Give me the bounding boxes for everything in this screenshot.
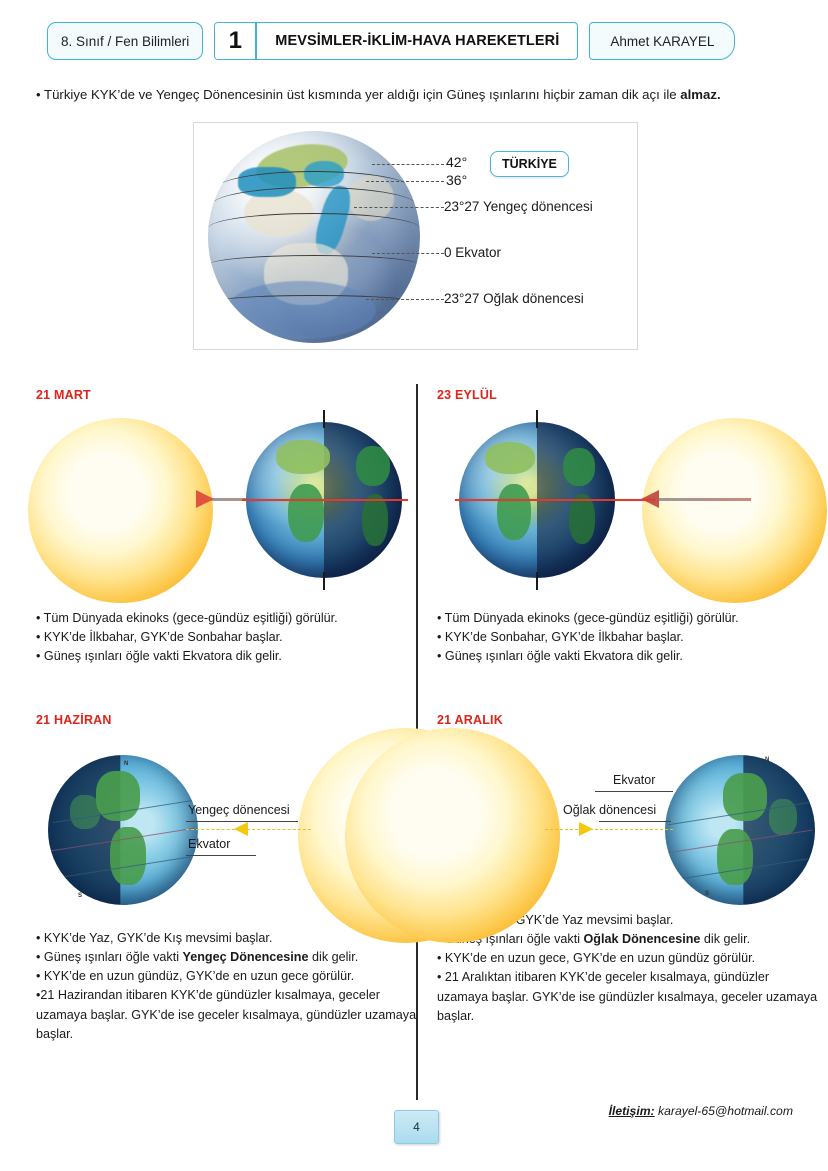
season-title-aralik: 21 ARALIK	[437, 713, 819, 727]
pole-label-south: S	[705, 891, 709, 897]
earth-axis-top	[536, 410, 538, 428]
contact-label: İletişim:	[609, 1104, 655, 1118]
latitude-line-tropic-cancer	[208, 213, 420, 235]
continent-shape	[485, 442, 535, 474]
sunray-line	[545, 829, 673, 830]
earth-globe-image	[208, 131, 420, 343]
earth-axis-bottom	[323, 572, 325, 590]
bullet-item: • KYK’de en uzun gece, GYK’de en uzun gü…	[437, 949, 819, 968]
bullet-text: • KYK’de en uzun gece, GYK’de en uzun gü…	[437, 951, 755, 965]
callout-rule-capricorn	[599, 821, 671, 822]
label-tropic-capricorn: 23°27 Oğlak dönencesi	[444, 291, 584, 306]
bullet-item: • Güneş ışınları öğle vakti Ekvatora dik…	[437, 647, 819, 666]
sunray-arrow-head	[579, 822, 593, 836]
latitude-line-equator	[208, 255, 420, 273]
leader-line-cancer	[354, 207, 444, 208]
pole-label-south: S	[78, 893, 82, 899]
season-block-aralik: 21 ARALIK N S Ekvator Oğlak dönencesi • …	[437, 713, 819, 1026]
header-title-group: 1 MEVSİMLER-İKLİM-HAVA HAREKETLERİ	[214, 22, 578, 60]
pole-label-north: N	[765, 757, 769, 763]
callout-rule-equator	[595, 791, 673, 792]
bullet-item: • Tüm Dünyada ekinoks (gece-gündüz eşitl…	[437, 609, 819, 628]
earth-solstice-image	[48, 755, 198, 905]
latitude-figure: 42° 36° TÜRKİYE 23°27 Yengeç dönencesi 0…	[193, 122, 638, 350]
bullet-text: • 21 Aralıktan itibaren KYK’de geceler k…	[437, 970, 817, 1022]
continent-shape	[497, 484, 531, 540]
bullet-item: •21 Hazirandan itibaren KYK’de gündüzler…	[36, 986, 418, 1043]
bullet-text: • KYK’de Yaz, GYK’de Kış mevsimi başlar.	[36, 931, 272, 945]
season-title-haziran: 21 HAZİRAN	[36, 713, 418, 727]
continent-shape	[717, 829, 753, 885]
continent-shape	[356, 446, 390, 486]
continent-shape	[362, 494, 388, 546]
page-number-badge: 4	[394, 1110, 439, 1144]
sunray-arrow-head	[234, 822, 248, 836]
bullet-text: dik gelir.	[700, 932, 750, 946]
turkiye-badge: TÜRKİYE	[490, 151, 569, 177]
contact-email: karayel-65@hotmail.com	[658, 1104, 793, 1118]
bullet-text: • Güneş ışınları öğle vakti	[36, 950, 183, 964]
worksheet-page: 8. Sınıf / Fen Bilimleri 1 MEVSİMLER-İKL…	[0, 0, 828, 1171]
sun-illustration	[345, 728, 560, 943]
bullet-text: • KYK’de en uzun gündüz, GYK’de en uzun …	[36, 969, 354, 983]
equator-line-red	[455, 499, 655, 501]
contact-info: İletişim: karayel-65@hotmail.com	[609, 1104, 793, 1118]
sun-illustration	[28, 418, 213, 603]
label-latitude-42: 42°	[446, 154, 467, 170]
label-tropic-cancer: 23°27 Yengeç dönencesi	[444, 199, 593, 214]
leader-line-capricorn	[366, 299, 444, 300]
bullet-emphasis: Oğlak Dönencesine	[584, 932, 701, 946]
leader-line-equator	[372, 253, 444, 254]
header-author: Ahmet KARAYEL	[589, 22, 735, 60]
continent-shape	[569, 494, 595, 544]
sunray-arrow-shaft	[659, 498, 751, 501]
label-latitude-36: 36°	[446, 172, 467, 188]
callout-label-equator: Ekvator	[613, 773, 655, 787]
bullet-item: • Güneş ışınları öğle vakti Ekvatora dik…	[36, 647, 418, 666]
intro-emphasis: almaz.	[680, 87, 720, 102]
continent-shape	[288, 484, 324, 542]
bullet-text: •21 Hazirandan itibaren KYK’de gündüzler…	[36, 988, 416, 1040]
continent-shape	[276, 440, 330, 474]
earth-solstice-image	[665, 755, 815, 905]
callout-label-cancer: Yengeç dönencesi	[188, 803, 290, 817]
callout-label-capricorn: Oğlak dönencesi	[563, 803, 656, 817]
intro-text: • Türkiye KYK’de ve Yengeç Dönencesinin …	[36, 87, 680, 102]
season-title-mart: 21 MART	[36, 388, 418, 402]
equinox-diagram-mart	[36, 408, 418, 603]
callout-rule-equator	[186, 855, 256, 856]
leader-line-36	[366, 181, 444, 182]
bullet-emphasis: Yengeç Dönencesine	[183, 950, 309, 964]
equator-line-red	[242, 499, 408, 501]
bullet-item: • KYK’de Sonbahar, GYK’de İlkbahar başla…	[437, 628, 819, 647]
sunray-line	[186, 829, 311, 830]
season-block-mart: 21 MART • Tüm Dünyada ekinoks (gece-günd…	[36, 388, 418, 666]
intro-sentence: • Türkiye KYK’de ve Yengeç Dönencesinin …	[36, 86, 806, 104]
pole-label-north: N	[124, 761, 128, 767]
bullet-item: • KYK’de İlkbahar, GYK’de Sonbahar başla…	[36, 628, 418, 647]
season-text-eylul: • Tüm Dünyada ekinoks (gece-gündüz eşitl…	[437, 609, 819, 666]
bullet-item: • Güneş ışınları öğle vakti Yengeç Dönen…	[36, 948, 418, 967]
header-unit-number: 1	[215, 23, 257, 59]
bullet-item: • Tüm Dünyada ekinoks (gece-gündüz eşitl…	[36, 609, 418, 628]
bullet-item: • KYK’de en uzun gündüz, GYK’de en uzun …	[36, 967, 418, 986]
continent-shape	[563, 448, 595, 486]
label-equator: 0 Ekvator	[444, 245, 501, 260]
season-block-eylul: 23 EYLÜL • Tüm Dünyada ekinoks (gece-gün…	[437, 388, 819, 666]
latitude-line-tropic-capricorn	[212, 295, 416, 311]
season-text-mart: • Tüm Dünyada ekinoks (gece-gündüz eşitl…	[36, 609, 418, 666]
page-header: 8. Sınıf / Fen Bilimleri 1 MEVSİMLER-İKL…	[47, 22, 735, 60]
equinox-diagram-eylul	[437, 408, 819, 603]
earth-axis-bottom	[536, 572, 538, 590]
solstice-diagram-aralik: N S Ekvator Oğlak dönencesi	[437, 733, 819, 913]
season-text-haziran: • KYK’de Yaz, GYK’de Kış mevsimi başlar.…	[36, 929, 418, 1044]
sunray-arrow-head	[196, 490, 214, 508]
header-class-label: 8. Sınıf / Fen Bilimleri	[47, 22, 203, 60]
earth-axis-top	[323, 410, 325, 428]
sun-illustration	[642, 418, 827, 603]
callout-label-equator: Ekvator	[188, 837, 230, 851]
bullet-item: • 21 Aralıktan itibaren KYK’de geceler k…	[437, 968, 819, 1025]
bullet-text: dik gelir.	[309, 950, 359, 964]
header-unit-title: MEVSİMLER-İKLİM-HAVA HAREKETLERİ	[257, 23, 577, 59]
continent-shape	[70, 795, 100, 829]
season-title-eylul: 23 EYLÜL	[437, 388, 819, 402]
leader-line-42	[372, 164, 444, 165]
